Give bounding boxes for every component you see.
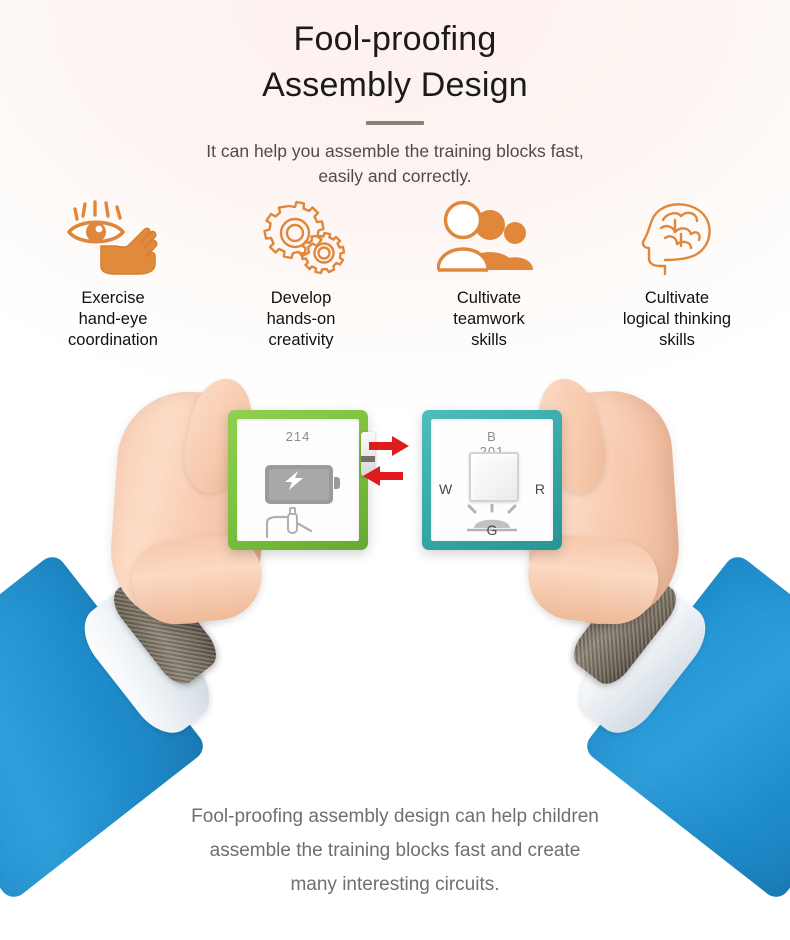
feature-label-line: teamwork (398, 309, 580, 330)
feature-label-line: skills (586, 330, 768, 351)
feature-label-line: Cultivate (586, 288, 768, 309)
people-group-icon (398, 198, 580, 276)
feature-label-hand-eye: Exercise hand-eye coordination (22, 288, 204, 351)
arrow-right-icon (369, 436, 409, 456)
led-module-face: B 201 W R G (431, 419, 553, 541)
page-title-line-1: Fool-proofing (0, 16, 790, 62)
eye-hand-icon (22, 198, 204, 276)
feature-label-line: skills (398, 330, 580, 351)
feature-label-line: Develop (210, 288, 392, 309)
terminal-label-g: G (431, 522, 553, 538)
usb-cable-icon (265, 507, 329, 539)
module-code-line: 214 (237, 429, 359, 444)
terminal-label-r: R (535, 481, 545, 497)
feature-label-line: Exercise (22, 288, 204, 309)
feature-label-line: hands-on (210, 309, 392, 330)
battery-module-code: 214 (237, 429, 359, 444)
footer-line-2: assemble the training blocks fast and cr… (0, 834, 790, 868)
head-brain-icon (586, 198, 768, 276)
battery-module-block[interactable]: 214 (228, 410, 368, 550)
feature-list: Exercise hand-eye coordination (22, 198, 768, 351)
feature-label-line: coordination (22, 330, 204, 351)
feature-label-line: logical thinking (586, 309, 768, 330)
footer-description: Fool-proofing assembly design can help c… (0, 800, 790, 902)
led-square-icon (469, 452, 519, 502)
feature-label-creativity: Develop hands-on creativity (210, 288, 392, 351)
subtitle-line-1: It can help you assemble the training bl… (0, 139, 790, 164)
title-divider (366, 121, 424, 125)
feature-label-line: Cultivate (398, 288, 580, 309)
subtitle-line-2: easily and correctly. (0, 164, 790, 189)
header: Fool-proofing Assembly Design It can hel… (0, 0, 790, 189)
feature-item-teamwork: Cultivate teamwork skills (398, 198, 580, 351)
arrow-left-icon (363, 466, 403, 486)
subtitle: It can help you assemble the training bl… (0, 139, 790, 189)
module-code-line: B (431, 429, 553, 444)
terminal-label-w: W (439, 481, 452, 497)
feature-item-creativity: Develop hands-on creativity (210, 198, 392, 351)
page-title-line-2: Assembly Design (0, 62, 790, 108)
page-title: Fool-proofing Assembly Design (0, 16, 790, 108)
feature-item-logic: Cultivate logical thinking skills (586, 198, 768, 351)
hands-and-blocks-scene: 214 (0, 370, 790, 800)
feature-label-teamwork: Cultivate teamwork skills (398, 288, 580, 351)
gears-icon (210, 198, 392, 276)
battery-icon (265, 465, 333, 504)
feature-label-logic: Cultivate logical thinking skills (586, 288, 768, 351)
footer-line-3: many interesting circuits. (0, 868, 790, 902)
connection-arrows (357, 436, 415, 492)
led-module-block[interactable]: B 201 W R G (422, 410, 562, 550)
promo-page: Fool-proofing Assembly Design It can hel… (0, 0, 790, 940)
feature-label-line: creativity (210, 330, 392, 351)
battery-module-face: 214 (237, 419, 359, 541)
feature-item-hand-eye: Exercise hand-eye coordination (22, 198, 204, 351)
footer-line-1: Fool-proofing assembly design can help c… (0, 800, 790, 834)
feature-label-line: hand-eye (22, 309, 204, 330)
